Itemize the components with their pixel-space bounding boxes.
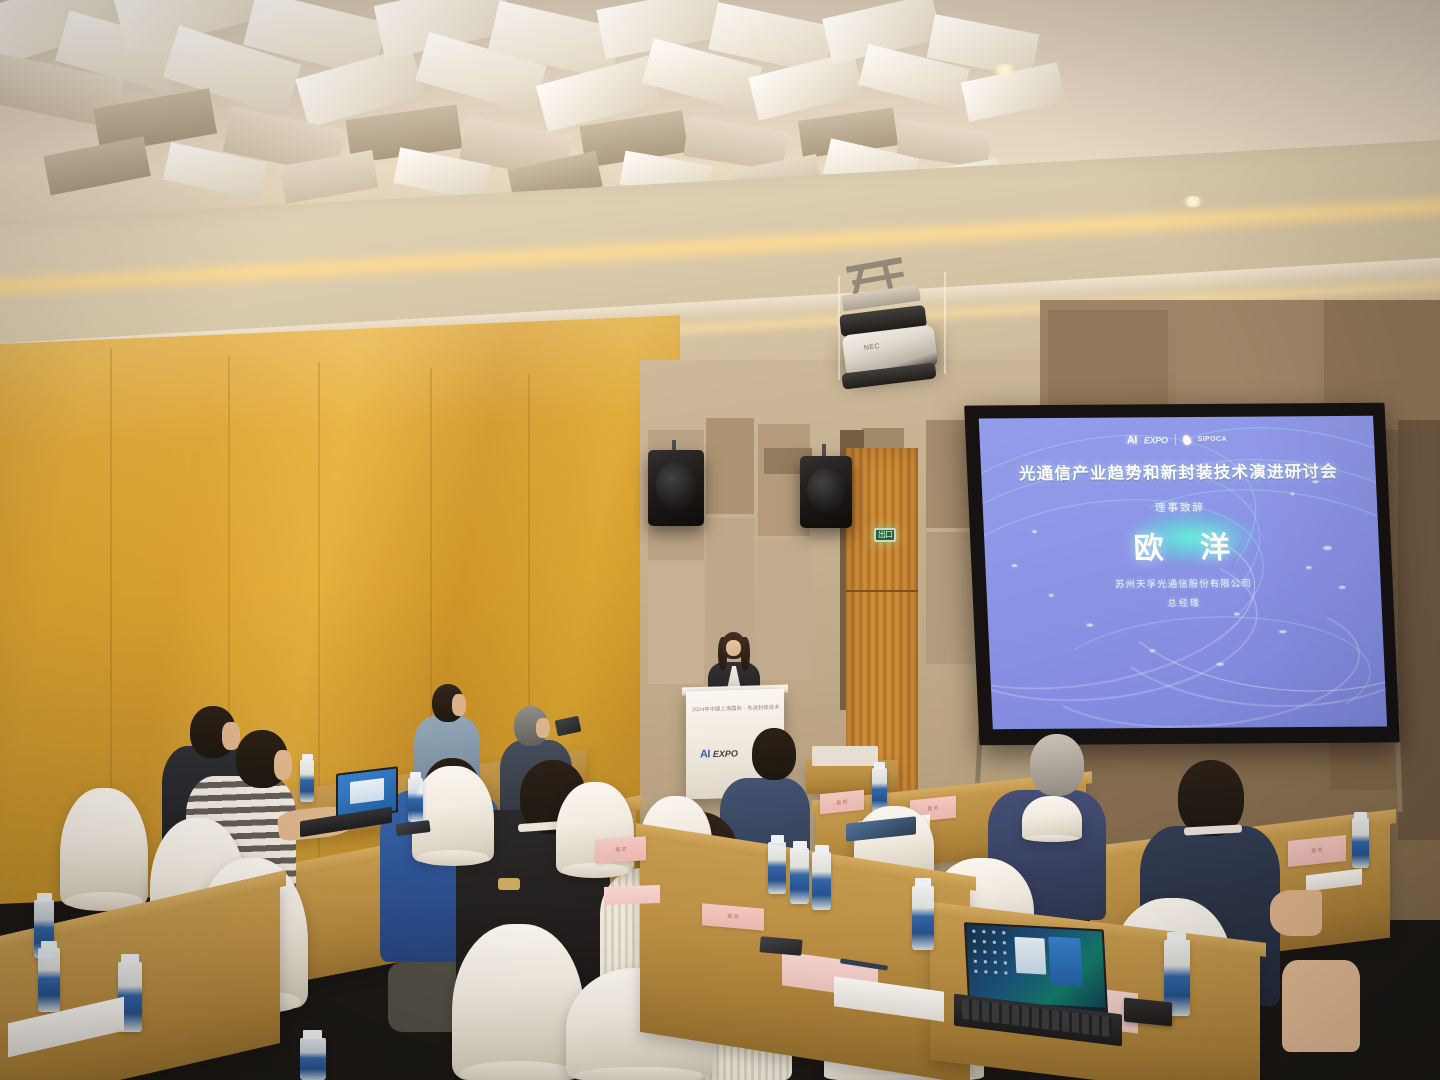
chair-1 bbox=[60, 788, 148, 906]
bottle-cap-10 bbox=[915, 878, 931, 887]
slide-title: 光通信产业趋势和新封装技术演进研讨会 bbox=[1018, 458, 1338, 484]
water-bottle-5 bbox=[300, 760, 314, 802]
av-equipment-box bbox=[812, 746, 878, 766]
slide-logo-row: AI EXPO SIPOCA bbox=[1127, 433, 1228, 447]
attendee-logo-patch bbox=[498, 878, 520, 890]
water-bottle-4 bbox=[300, 1038, 326, 1080]
wallet-on-table bbox=[1124, 997, 1172, 1026]
attendee-arm bbox=[1270, 890, 1322, 936]
conference-room-photo: 出口 NEC bbox=[0, 0, 1440, 1080]
bottle-cap-4 bbox=[303, 1030, 322, 1039]
chair-13 bbox=[1022, 796, 1082, 840]
bottle-cap-5 bbox=[302, 754, 313, 760]
name-card-text: 嘉 宾 bbox=[596, 844, 646, 854]
ai-logo-text: AI bbox=[1127, 434, 1138, 446]
bottle-cap-3 bbox=[121, 954, 139, 963]
water-bottle-2 bbox=[38, 948, 60, 1012]
downlight-ceiling-4 bbox=[992, 64, 1018, 77]
logo-divider bbox=[1174, 434, 1175, 445]
bottle-cap-11 bbox=[1167, 932, 1186, 941]
water-bottle-10 bbox=[912, 886, 934, 950]
podium-ai-logo-text: AI bbox=[700, 748, 710, 760]
bottle-cap-7 bbox=[771, 835, 784, 843]
right-wall-panel-2 bbox=[1176, 300, 1316, 410]
name-card-text: 嘉 宾 bbox=[820, 796, 864, 808]
wood-slat-seam bbox=[846, 590, 918, 592]
water-bottle-7 bbox=[768, 842, 786, 894]
projection-screen: AI EXPO SIPOCA 光通信产业趋势和新封装技术演进研讨会 理事致辞 欧… bbox=[964, 403, 1400, 746]
slide-speaker-name: 欧 洋 bbox=[1118, 523, 1244, 568]
chair-4 bbox=[412, 766, 494, 862]
screen-surface: AI EXPO SIPOCA 光通信产业趋势和新封装技术演进研讨会 理事致辞 欧… bbox=[979, 416, 1387, 729]
slide-role: 总经理 bbox=[1167, 596, 1201, 609]
bottle-cap-bl-1 bbox=[874, 762, 885, 769]
water-bottle-bl-1 bbox=[872, 768, 887, 812]
slide-content: AI EXPO SIPOCA 光通信产业趋势和新封装技术演进研讨会 理事致辞 欧… bbox=[979, 416, 1387, 729]
acoustic-panel-f bbox=[758, 540, 810, 680]
right-wall-panel-5 bbox=[1398, 420, 1440, 840]
bottle-cap-2 bbox=[41, 941, 57, 949]
bottle-cap-6 bbox=[410, 772, 421, 778]
droplet-logo-icon bbox=[1181, 434, 1192, 446]
slide-subtitle: 理事致辞 bbox=[1155, 500, 1206, 515]
laptop-app-window bbox=[1048, 937, 1082, 987]
name-card-text: 嘉 宾 bbox=[1288, 844, 1346, 857]
attendee-leg bbox=[1282, 960, 1360, 1052]
partner-logo-text: SIPOCA bbox=[1198, 436, 1228, 443]
laptop-dialog-window bbox=[1014, 937, 1046, 975]
podium-logo: AI EXPO bbox=[700, 747, 738, 760]
podium-expo-logo-text: EXPO bbox=[713, 748, 738, 759]
acoustic-panel-c bbox=[648, 564, 704, 684]
bottle-cap-br-1 bbox=[1354, 812, 1367, 819]
water-bottle-br-1 bbox=[1352, 818, 1369, 868]
chair-6 bbox=[452, 924, 584, 1080]
presenter-face bbox=[726, 640, 741, 656]
name-card-front-1: 嘉 宾 bbox=[596, 836, 646, 863]
downlight-ceiling-5 bbox=[1182, 196, 1204, 207]
pink-paper-3 bbox=[604, 885, 660, 905]
acoustic-panel-b bbox=[706, 418, 754, 514]
exit-sign: 出口 bbox=[874, 528, 896, 542]
ceiling-speaker-right bbox=[800, 456, 852, 528]
water-bottle-6 bbox=[408, 778, 423, 822]
exit-sign-label: 出口 bbox=[878, 531, 892, 539]
ceiling-speaker-left bbox=[648, 450, 704, 526]
water-bottle-9 bbox=[812, 852, 831, 910]
water-bottle-8 bbox=[790, 848, 809, 904]
slide-organization: 苏州天孚光通信股份有限公司 bbox=[1115, 576, 1252, 591]
bottle-cap-8 bbox=[793, 841, 807, 849]
expo-logo-text: EXPO bbox=[1144, 435, 1168, 445]
bottle-cap-1 bbox=[37, 893, 52, 901]
bottle-cap-9 bbox=[815, 845, 829, 853]
name-card-text: 嘉 宾 bbox=[702, 911, 764, 923]
